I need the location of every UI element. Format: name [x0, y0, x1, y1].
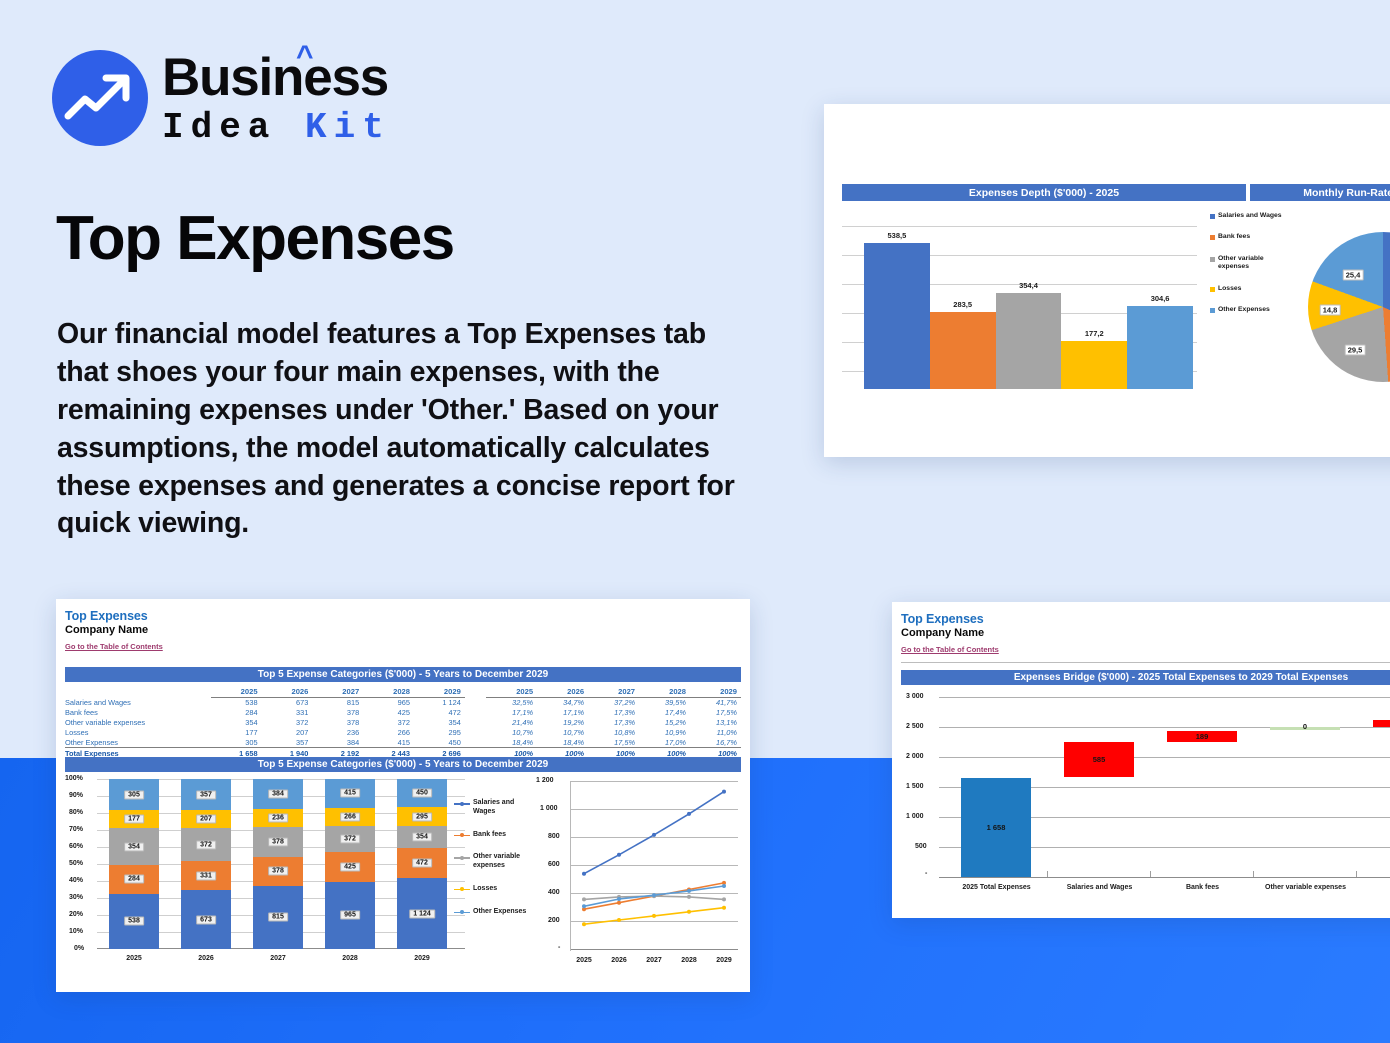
ytick: 800 [548, 833, 560, 840]
xtick-2026: 2026 [599, 957, 639, 964]
legend-swatch-icon [1210, 214, 1215, 219]
pie-label-other-variable: 29,5 [1345, 345, 1366, 356]
legend-item-losses: Losses [454, 885, 532, 894]
logo-kit-text: Kit [305, 107, 391, 148]
legend-label: Other Expenses [1218, 306, 1270, 314]
stacked-col-2029: 450 295 354 472 1 124 [397, 779, 447, 949]
xtick-2027: 2027 [253, 955, 303, 962]
ytick: 60% [69, 843, 83, 850]
bridge-plot-area: 1 658 585 189 0 118 2025 Total Expenses … [939, 697, 1390, 877]
waterfall-bar-salaries: 585 [1064, 742, 1134, 777]
expense-trend-line-chart: 1 200 1 000 800 600 400 200 - [536, 781, 741, 986]
xtick-2029: 2029 [397, 955, 447, 962]
bar-other-variable: 354,4 [996, 293, 1062, 389]
bar-salaries: 538,5 [864, 243, 930, 389]
sheet-header: Top Expenses Company Name Go to the Tabl… [65, 609, 163, 654]
ytick: 2 000 [906, 753, 924, 760]
ytick: 90% [69, 792, 83, 799]
expenses-depth-chart: 538,5 283,5 354,4 177,2 304,6 [842, 209, 1197, 389]
stacked-bar-chart: 100% 90% 80% 70% 60% 50% 40% 30% 20% 10%… [65, 779, 465, 984]
ytick: 80% [69, 809, 83, 816]
legend-line-icon [454, 855, 470, 861]
ytick: 20% [69, 911, 83, 918]
stacked-col-2025: 305 177 354 284 538 [109, 779, 159, 949]
ytick: 3 000 [906, 693, 924, 700]
legend-label: Losses [1218, 285, 1241, 293]
legend-label: Bank fees [1218, 233, 1250, 241]
expenses-depth-title: Expenses Depth ($'000) - 2025 [842, 184, 1246, 201]
logo-wordmark-ideakit: Idea Kit [162, 110, 391, 146]
legend-item-bank-fees: Bank fees [1210, 233, 1290, 241]
pct-col-2028: 2028 [639, 687, 690, 698]
stacked-col-2027: 384 236 378 378 815 [253, 779, 303, 949]
ytick: 0% [74, 945, 84, 952]
xtick-bank-fees: Bank fees [1151, 884, 1254, 891]
monthly-run-rate-title: Monthly Run-Rate ($'000) [1250, 184, 1390, 201]
growth-arrow-icon [52, 50, 148, 146]
legend-line-icon [454, 833, 470, 839]
sheet-company-name: Company Name [65, 624, 163, 636]
table-row: Losses 177207236266295 10,7%10,7%10,8%10… [65, 727, 741, 737]
logo-wordmark-business: Business ^ [162, 51, 391, 104]
xtick-2027: 2027 [634, 957, 674, 964]
col-2027: 2027 [312, 687, 363, 698]
table-of-contents-link[interactable]: Go to the Table of Contents [901, 645, 999, 654]
ytick: - [925, 870, 927, 877]
logo-circumflex-icon: ^ [296, 42, 312, 72]
table-row: Other Expenses 305357384415450 18,4%18,4… [65, 737, 741, 747]
legend-item-other-variable: Other variable expenses [1210, 255, 1290, 272]
waterfall-bar-bank-fees: 189 [1167, 731, 1237, 742]
bar-other-expenses: 304,6 [1127, 306, 1193, 389]
logo-business-text: Business [162, 48, 388, 107]
bar-series: 538,5 283,5 354,4 177,2 304,6 [864, 226, 1193, 389]
ytick: 500 [915, 843, 927, 850]
legend-item-other-expenses: Other Expenses [1210, 306, 1290, 314]
ytick: - [558, 944, 560, 951]
waterfall-bar-other-variable: 0 [1270, 727, 1340, 730]
ytick: 400 [548, 889, 560, 896]
legend-item-bank-fees: Bank fees [454, 831, 532, 840]
legend-line-icon [454, 910, 470, 916]
sheet-company-name: Company Name [901, 627, 999, 639]
legend-item-losses: Losses [1210, 285, 1290, 293]
sheet-title: Top Expenses [65, 609, 163, 623]
legend-item-salaries: Salaries and Wages [454, 799, 532, 817]
line-series-svg [570, 781, 738, 951]
table-row: Bank fees 284331378425472 17,1%17,1%17,3… [65, 708, 741, 718]
col-2025: 2025 [211, 687, 262, 698]
ytick: 1 500 [906, 783, 924, 790]
expenses-bridge-panel: Top Expenses Company Name Go to the Tabl… [892, 602, 1390, 918]
ytick: 200 [548, 917, 560, 924]
xtick-2028: 2028 [669, 957, 709, 964]
table-of-contents-link[interactable]: Go to the Table of Contents [65, 642, 163, 651]
bar-losses: 177,2 [1061, 341, 1127, 389]
legend-swatch-icon [1210, 257, 1215, 262]
ytick: 1 200 [536, 777, 554, 784]
bar-bank-fees: 283,5 [930, 312, 996, 389]
logo-idea-text: Idea [162, 107, 276, 148]
table-row: Other variable expenses 354372378372354 … [65, 718, 741, 728]
xtick-other-variable: Other variable expenses [1254, 884, 1357, 891]
hero-description: Our financial model features a Top Expen… [57, 316, 757, 543]
sheet-title: Top Expenses [901, 612, 999, 626]
stacked-col-2026: 357 207 372 331 673 [181, 779, 231, 949]
col-2028: 2028 [363, 687, 414, 698]
pie-label-losses: 14,8 [1320, 305, 1341, 316]
monthly-run-rate-chart: 25,4 14,8 29,5 [1308, 232, 1390, 382]
bridge-title-bar: Expenses Bridge ($'000) - 2025 Total Exp… [901, 670, 1390, 685]
legend-swatch-icon [1210, 235, 1215, 240]
expense-categories-table: 2025 2026 2027 2028 2029 2025 2026 2027 … [65, 687, 741, 758]
xtick-2029: 2029 [704, 957, 744, 964]
pct-col-2025: 2025 [486, 687, 537, 698]
stacked-chart-title-bar: Top 5 Expense Categories ($'000) - 5 Yea… [65, 757, 741, 772]
ytick: 50% [69, 860, 83, 867]
legend-item-other-variable: Other variable expenses [454, 853, 532, 871]
col-2029: 2029 [414, 687, 465, 698]
bridge-sheet-header: Top Expenses Company Name Go to the Tabl… [901, 612, 999, 657]
pct-col-2027: 2027 [588, 687, 639, 698]
ytick: 600 [548, 861, 560, 868]
line-plot-area: 2025 2026 2027 2028 2029 [570, 781, 738, 951]
legend-swatch-icon [1210, 287, 1215, 292]
waterfall-bar-losses: 118 [1373, 720, 1390, 727]
stacked-col-2028: 415 266 372 425 965 [325, 779, 375, 949]
table-row: Salaries and Wages 5386738159651 124 32,… [65, 698, 741, 708]
legend-line-icon [454, 887, 470, 893]
panel-top-title-row: Expenses Depth ($'000) - 2025 Monthly Ru… [842, 184, 1390, 201]
xtick-2025: 2025 [564, 957, 604, 964]
divider [901, 662, 1390, 663]
pct-col-2026: 2026 [537, 687, 588, 698]
table-header-row: 2025 2026 2027 2028 2029 2025 2026 2027 … [65, 687, 741, 698]
xtick-losses: Losses [1357, 884, 1390, 891]
stacked-chart-legend: Salaries and Wages Bank fees Other varia… [454, 799, 532, 916]
xtick-2025: 2025 [109, 955, 159, 962]
ytick: 10% [69, 928, 83, 935]
ytick: 40% [69, 877, 83, 884]
expenses-depth-panel: Expenses Depth ($'000) - 2025 Monthly Ru… [824, 104, 1390, 457]
xtick-2026: 2026 [181, 955, 231, 962]
pie-label-other-expenses: 25,4 [1343, 270, 1364, 281]
legend-label: Other variable expenses [1218, 255, 1290, 272]
page-title: Top Expenses [56, 203, 454, 274]
ytick: 70% [69, 826, 83, 833]
legend-item-other-expenses: Other Expenses [454, 908, 532, 917]
top-expenses-sheet-panel: Top Expenses Company Name Go to the Tabl… [56, 599, 750, 992]
legend-item-salaries: Salaries and Wages [1210, 212, 1290, 220]
expenses-bridge-chart: 3 000 2 500 2 000 1 500 1 000 500 - 1 65… [901, 697, 1390, 912]
ytick: 30% [69, 894, 83, 901]
legend-label: Salaries and Wages [1218, 212, 1282, 220]
brand-logo: Business ^ Idea Kit [52, 50, 391, 146]
ytick: 1 000 [906, 813, 924, 820]
legend-line-icon [454, 801, 470, 807]
waterfall-bar-total-2025: 1 658 [961, 778, 1031, 878]
expenses-depth-legend: Salaries and Wages Bank fees Other varia… [1210, 212, 1290, 315]
xtick-total-2025: 2025 Total Expenses [945, 884, 1048, 891]
ytick: 1 000 [540, 805, 558, 812]
col-2026: 2026 [262, 687, 313, 698]
xtick-2028: 2028 [325, 955, 375, 962]
legend-swatch-icon [1210, 308, 1215, 313]
table-title-bar: Top 5 Expense Categories ($'000) - 5 Yea… [65, 667, 741, 682]
stacked-plot-area: 305 177 354 284 538 357 207 372 331 673 … [97, 779, 465, 949]
pct-col-2029: 2029 [690, 687, 741, 698]
xtick-salaries: Salaries and Wages [1048, 884, 1151, 891]
ytick: 2 500 [906, 723, 924, 730]
ytick: 100% [65, 775, 83, 782]
